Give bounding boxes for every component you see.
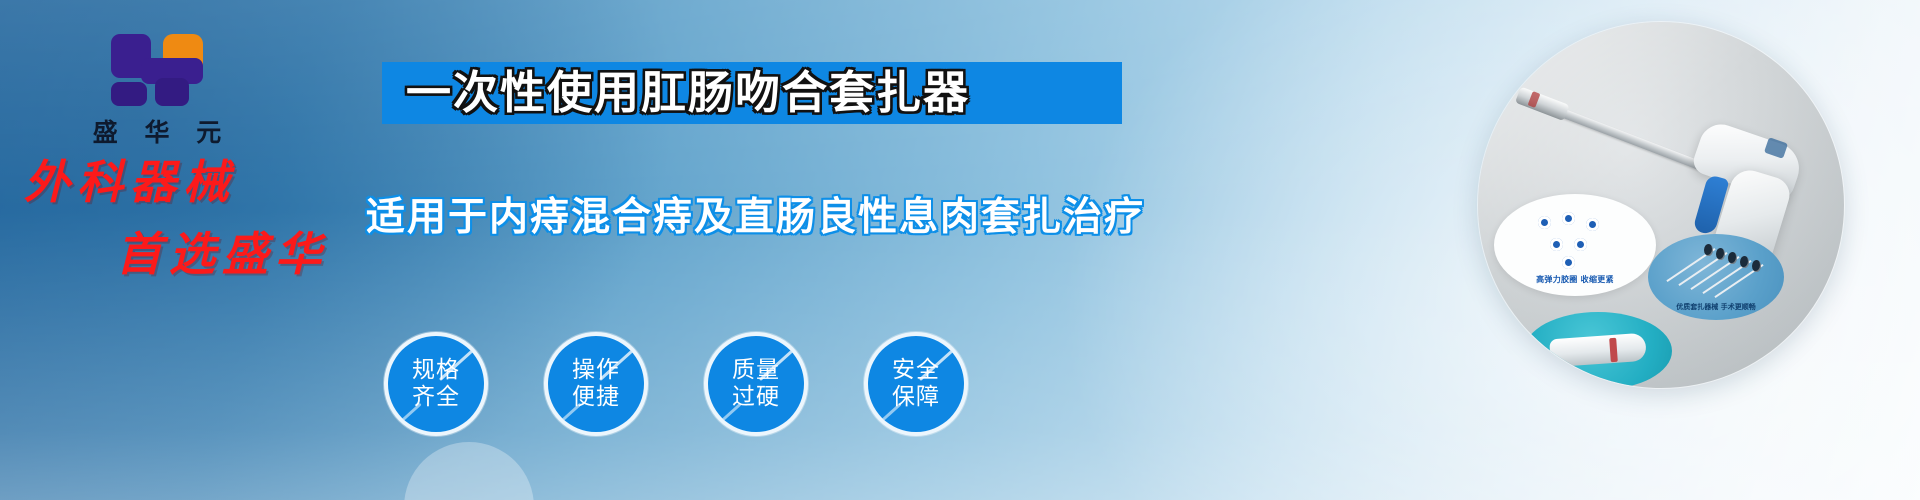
badge-shine-icon [880, 403, 901, 423]
decorative-circle [404, 442, 534, 500]
company-name: 盛 华 元 [62, 113, 252, 149]
inset-rubber-bands: 高弹力胶圈 收缩更紧 [1494, 194, 1656, 296]
rubber-band-dot [1586, 218, 1599, 231]
logo-shape-bottom-right [155, 78, 189, 106]
rubber-band-dot [1538, 216, 1551, 229]
badge-label-line1: 质量 [732, 357, 780, 384]
badge-label-line1: 操作 [572, 357, 620, 384]
page-title: 一次性使用肛肠吻合套扎器 [406, 64, 1106, 122]
ligator-rod-head [1728, 252, 1737, 264]
ligator-rods-caption: 优质套扎器械 手术更顺畅 [1648, 302, 1784, 312]
shy-monogram-logo-icon [111, 26, 203, 106]
badge-label-line1: 安全 [892, 357, 940, 384]
badge-shine-icon [720, 403, 741, 423]
rubber-band-dot [1562, 256, 1575, 269]
rubber-band-dot [1574, 238, 1587, 251]
anoscope-body [1549, 333, 1647, 368]
ligator-rod-head [1716, 248, 1725, 260]
feature-badge-list: 规格 齐全 操作 便捷 质量 过硬 安全 保障 [384, 332, 968, 436]
brand-logo-block[interactable]: 盛 华 元 [62, 26, 252, 149]
ligator-rod-head [1740, 256, 1749, 268]
product-photo: 高弹力胶圈 收缩更紧 优质套扎器械 手术更顺畅 [1478, 22, 1844, 388]
page-subtitle: 适用于内痔混合痔及直肠良性息肉套扎治疗 [366, 190, 1126, 246]
feature-badge-specifications[interactable]: 规格 齐全 [384, 332, 488, 436]
badge-shine-icon [400, 403, 421, 423]
rubber-band-dot [1562, 212, 1575, 225]
logo-shape-bottom-left [111, 82, 147, 106]
rubber-band-dot [1550, 238, 1563, 251]
feature-badge-safety[interactable]: 安全 保障 [864, 332, 968, 436]
rubber-bands-caption: 高弹力胶圈 收缩更紧 [1494, 274, 1656, 285]
badge-label-line1: 规格 [412, 357, 460, 384]
feature-badge-easy-operation[interactable]: 操作 便捷 [544, 332, 648, 436]
ligator-rod-head [1752, 260, 1761, 272]
inset-ligator-rods: 优质套扎器械 手术更顺畅 [1648, 234, 1784, 320]
ligator-rod-head [1704, 244, 1713, 256]
inset-anoscope [1524, 312, 1672, 388]
badge-shine-icon [560, 403, 581, 423]
feature-badge-quality[interactable]: 质量 过硬 [704, 332, 808, 436]
